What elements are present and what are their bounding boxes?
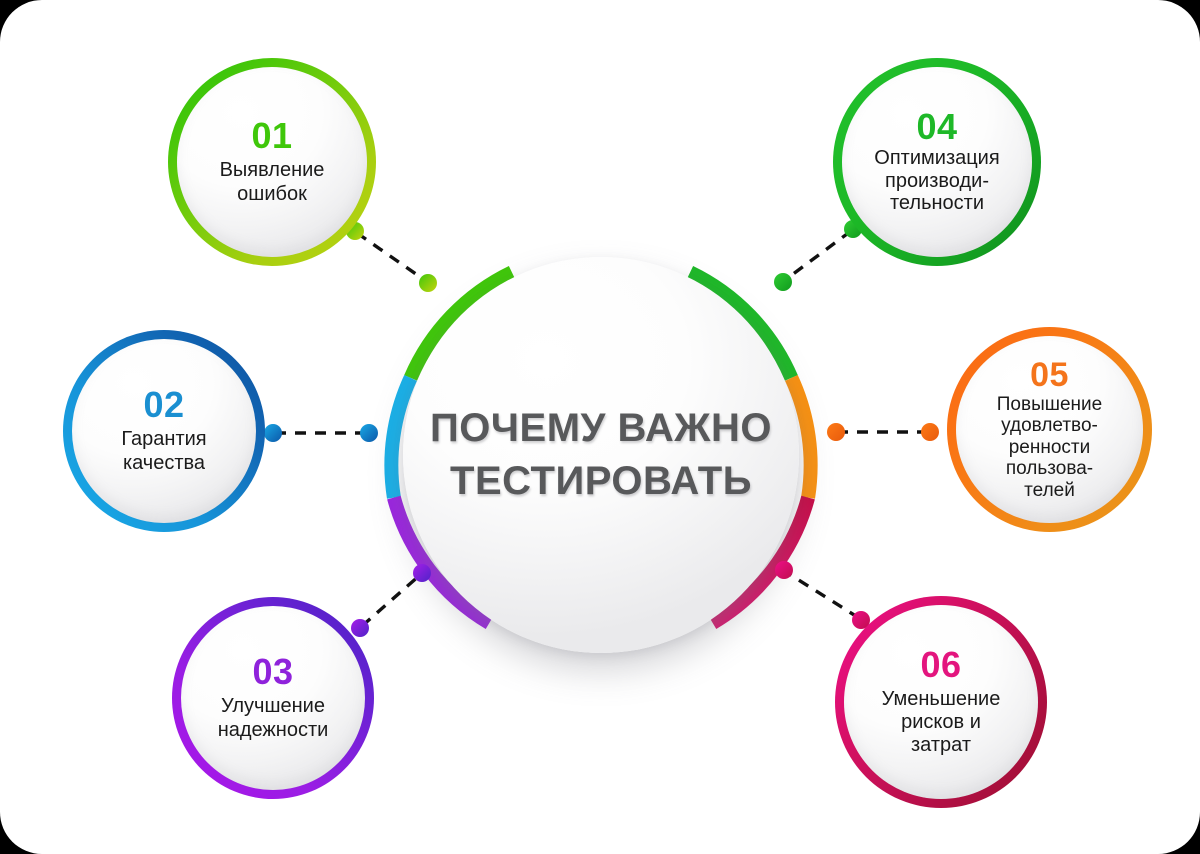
connector-01 [346, 222, 437, 292]
connector-04 [774, 220, 862, 291]
node-01-label: Выявление ошибок [214, 159, 331, 205]
node-04-number: 04 [916, 109, 957, 145]
connector-03 [351, 564, 431, 637]
node-04-inner: 04 Оптимизация производи- тельности [842, 67, 1032, 257]
connector-02 [264, 424, 378, 442]
connector-05 [827, 423, 939, 441]
node-06-number: 06 [920, 647, 961, 683]
node-06-inner: 06 Уменьшение рисков и затрат [844, 605, 1038, 799]
node-05-inner: 05 Повышение удовлетво- ренности пользов… [956, 336, 1143, 523]
node-01[interactable]: 01 Выявление ошибок [168, 58, 376, 266]
node-03-inner: 03 Улучшение надежности [181, 606, 365, 790]
connector-06 [775, 561, 870, 629]
node-02-label: Гарантия качества [115, 428, 212, 474]
node-01-number: 01 [251, 118, 292, 154]
node-06-label: Уменьшение рисков и затрат [876, 688, 1007, 758]
node-04[interactable]: 04 Оптимизация производи- тельности [833, 58, 1041, 266]
node-05[interactable]: 05 Повышение удовлетво- ренности пользов… [947, 327, 1152, 532]
diagram-stage: ПОЧЕМУ ВАЖНО ТЕСТИРОВАТЬ [0, 0, 1200, 854]
infographic-card: ПОЧЕМУ ВАЖНО ТЕСТИРОВАТЬ [0, 0, 1200, 854]
node-05-label: Повышение удовлетво- ренности пользова- … [991, 394, 1108, 501]
node-02[interactable]: 02 Гарантия качества [63, 330, 265, 532]
node-05-number: 05 [1030, 358, 1069, 392]
node-03[interactable]: 03 Улучшение надежности [172, 597, 374, 799]
node-02-number: 02 [143, 387, 184, 423]
node-04-label: Оптимизация производи- тельности [868, 147, 1005, 215]
node-02-inner: 02 Гарантия качества [72, 339, 256, 523]
node-03-number: 03 [252, 654, 293, 690]
node-03-label: Улучшение надежности [212, 695, 335, 741]
node-01-inner: 01 Выявление ошибок [177, 67, 367, 257]
node-06[interactable]: 06 Уменьшение рисков и затрат [835, 596, 1047, 808]
